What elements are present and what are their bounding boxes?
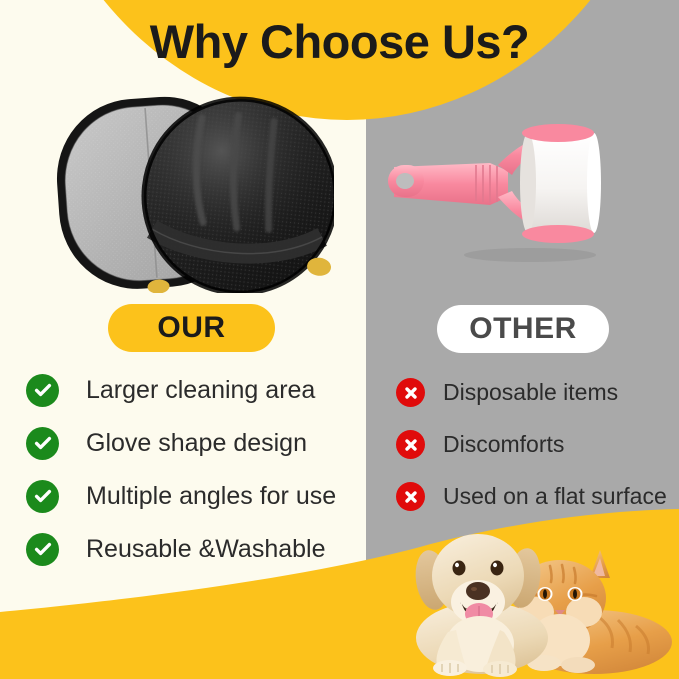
list-item: Used on a flat surface — [396, 480, 676, 513]
pets-photo — [404, 520, 679, 679]
cross-icon — [396, 482, 425, 511]
list-item: Reusable &Washable — [26, 531, 356, 567]
list-item-label: Multiple angles for use — [86, 484, 336, 509]
list-item-label: Discomforts — [443, 433, 564, 456]
list-item-label: Larger cleaning area — [86, 378, 315, 403]
cross-icon — [396, 430, 425, 459]
our-badge: OUR — [108, 304, 275, 352]
list-item: Disposable items — [396, 376, 676, 409]
list-item: Glove shape design — [26, 425, 356, 461]
check-icon — [26, 374, 59, 407]
list-item-label: Disposable items — [443, 381, 618, 404]
our-product-image — [44, 88, 334, 293]
list-item-label: Used on a flat surface — [443, 485, 667, 508]
list-item: Discomforts — [396, 428, 676, 461]
check-icon — [26, 533, 59, 566]
list-item: Larger cleaning area — [26, 372, 356, 408]
list-item-label: Reusable &Washable — [86, 537, 326, 562]
list-item: Multiple angles for use — [26, 478, 356, 514]
why-choose-us-poster: Why Choose Us? — [0, 0, 679, 679]
cross-icon — [396, 378, 425, 407]
other-feature-list: Disposable items Discomforts Used on a f… — [396, 376, 676, 532]
our-feature-list: Larger cleaning area Glove shape design … — [26, 372, 356, 584]
list-item-label: Glove shape design — [86, 431, 307, 456]
check-icon — [26, 427, 59, 460]
other-badge: OTHER — [437, 305, 609, 353]
check-icon — [26, 480, 59, 513]
other-product-image — [380, 105, 620, 265]
page-title: Why Choose Us? — [0, 14, 679, 69]
